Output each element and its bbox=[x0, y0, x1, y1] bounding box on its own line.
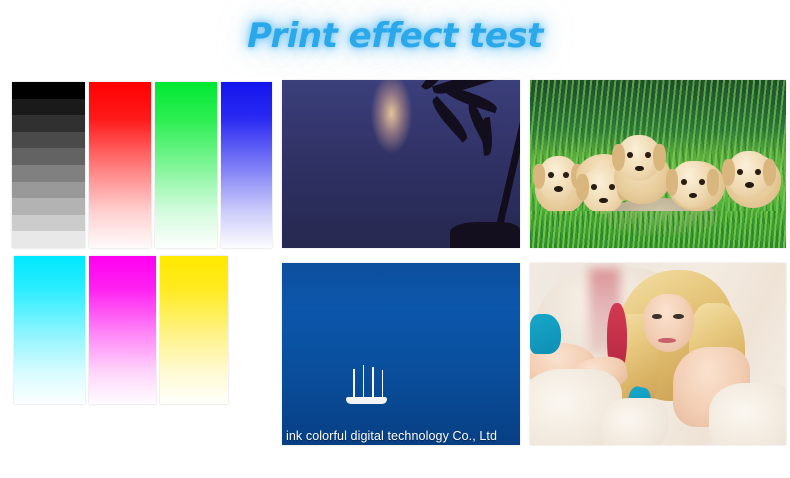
grayscale-step-wedge bbox=[12, 82, 85, 248]
ship-mast bbox=[363, 365, 364, 398]
puppy-eye bbox=[737, 169, 743, 175]
ship-ocean bbox=[282, 263, 520, 445]
red-gradient-bar bbox=[89, 82, 151, 248]
puppy-ear bbox=[576, 174, 589, 201]
gray-step-3 bbox=[12, 115, 85, 132]
puppy-eye bbox=[699, 179, 705, 185]
photo-puppies bbox=[530, 80, 786, 248]
gray-step-6 bbox=[12, 165, 85, 182]
gray-step-8 bbox=[12, 198, 85, 215]
puppy-eye bbox=[645, 152, 651, 158]
gray-step-2 bbox=[12, 99, 85, 116]
color-swatch-panel bbox=[0, 72, 280, 462]
yellow-gradient-bar bbox=[160, 256, 228, 404]
model-white-fabric-right bbox=[709, 383, 786, 445]
photo-tropical-sunset bbox=[282, 80, 520, 248]
title-area: Print effect test bbox=[0, 0, 790, 72]
model-teal-fabric bbox=[530, 314, 561, 354]
page-title: Print effect test bbox=[247, 16, 543, 56]
puppy-eye bbox=[548, 172, 554, 178]
puppy-eye bbox=[591, 184, 597, 190]
puppies-foreground-grass bbox=[530, 211, 786, 248]
blue-gradient-bar bbox=[221, 82, 272, 248]
model-lace-bodice bbox=[602, 398, 669, 445]
ship-mast bbox=[372, 367, 373, 398]
puppy-eye bbox=[681, 179, 687, 185]
ship-photo-caption: ink colorful digital technology Co., Ltd bbox=[282, 429, 520, 443]
gray-step-9 bbox=[12, 215, 85, 232]
photo-portrait-model bbox=[530, 263, 786, 445]
ship-mast bbox=[382, 370, 383, 397]
ship-mast bbox=[353, 369, 354, 398]
gray-step-7 bbox=[12, 182, 85, 199]
puppy-ear bbox=[653, 144, 666, 171]
puppy-nose bbox=[599, 198, 608, 204]
photo-sailing-ship: ink colorful digital technology Co., Ltd bbox=[282, 263, 520, 445]
gray-step-4 bbox=[12, 132, 85, 149]
cyan-gradient-bar bbox=[14, 256, 85, 404]
puppy-eye bbox=[627, 152, 633, 158]
sunset-shore-rock bbox=[450, 222, 520, 248]
model-lips bbox=[658, 338, 676, 343]
model-eye-right bbox=[673, 314, 683, 319]
magenta-gradient-bar bbox=[89, 256, 156, 404]
ship-hull bbox=[346, 397, 386, 405]
puppy-nose bbox=[554, 186, 563, 192]
puppy-eye bbox=[563, 172, 569, 178]
model-face bbox=[643, 294, 694, 352]
puppy-ear bbox=[763, 159, 776, 186]
puppy-ear bbox=[722, 159, 735, 186]
puppy-eye bbox=[755, 169, 761, 175]
gray-step-5 bbox=[12, 148, 85, 165]
gray-step-10 bbox=[12, 231, 85, 248]
green-gradient-bar bbox=[155, 82, 217, 248]
puppy-nose bbox=[745, 182, 754, 188]
puppy-ear bbox=[612, 144, 625, 171]
model-eye-left bbox=[652, 314, 662, 319]
gray-step-1 bbox=[12, 82, 85, 99]
puppy-nose bbox=[635, 166, 644, 172]
